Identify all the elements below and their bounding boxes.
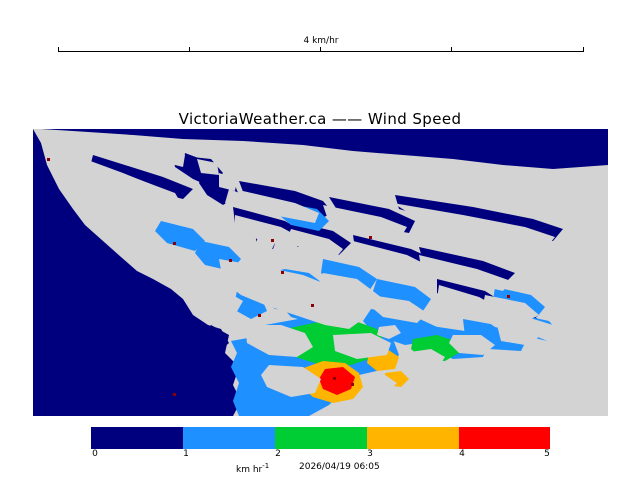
colorbar-segment-1	[183, 427, 275, 449]
timestamp-label: 2026/04/19 06:05	[299, 462, 380, 472]
colorbar-segment-2	[275, 427, 367, 449]
station-marker	[507, 295, 510, 298]
scale-bar-line	[58, 51, 584, 52]
scale-bar-tick	[189, 47, 190, 51]
station-marker	[351, 383, 354, 386]
station-marker	[173, 393, 176, 396]
station-marker	[47, 158, 50, 161]
colorbar-tick-5: 5	[544, 449, 550, 459]
colorbar-segment-3	[367, 427, 459, 449]
station-marker	[311, 304, 314, 307]
scale-bar-tick	[320, 47, 321, 51]
page-title: VictoriaWeather.ca —— Wind Speed	[0, 110, 640, 128]
colorbar-tick-labels: 0 1 2 3 4 5	[91, 449, 550, 463]
station-marker	[229, 259, 232, 262]
colorbar-unit-text: km hr	[236, 465, 262, 475]
station-marker	[333, 377, 336, 380]
colorbar-tick-0: 0	[92, 449, 98, 459]
station-marker	[369, 236, 372, 239]
colorbar-tick-1: 1	[183, 449, 189, 459]
wind-speed-map-page: 4 km/hr VictoriaWeather.ca —— Wind Speed	[0, 0, 640, 480]
map-svg	[33, 129, 608, 416]
colorbar-segment-4	[459, 427, 550, 449]
station-marker	[258, 314, 261, 317]
station-marker	[271, 239, 274, 242]
station-marker	[173, 242, 176, 245]
station-marker	[281, 271, 284, 274]
colorbar-unit-exponent: -1	[262, 462, 269, 470]
scale-bar-tick	[451, 47, 452, 51]
colorbar-unit-label: km hr-1	[236, 462, 269, 475]
scale-bar: 4 km/hr	[58, 36, 584, 58]
colorbar-tick-3: 3	[367, 449, 373, 459]
colorbar-tick-4: 4	[459, 449, 465, 459]
scale-bar-tick	[58, 47, 59, 51]
colorbar-tick-2: 2	[275, 449, 281, 459]
scale-bar-label: 4 km/hr	[58, 36, 584, 46]
colorbar	[91, 427, 550, 449]
colorbar-segment-0	[91, 427, 183, 449]
map-canvas	[33, 129, 608, 416]
scale-bar-tick	[583, 47, 584, 51]
